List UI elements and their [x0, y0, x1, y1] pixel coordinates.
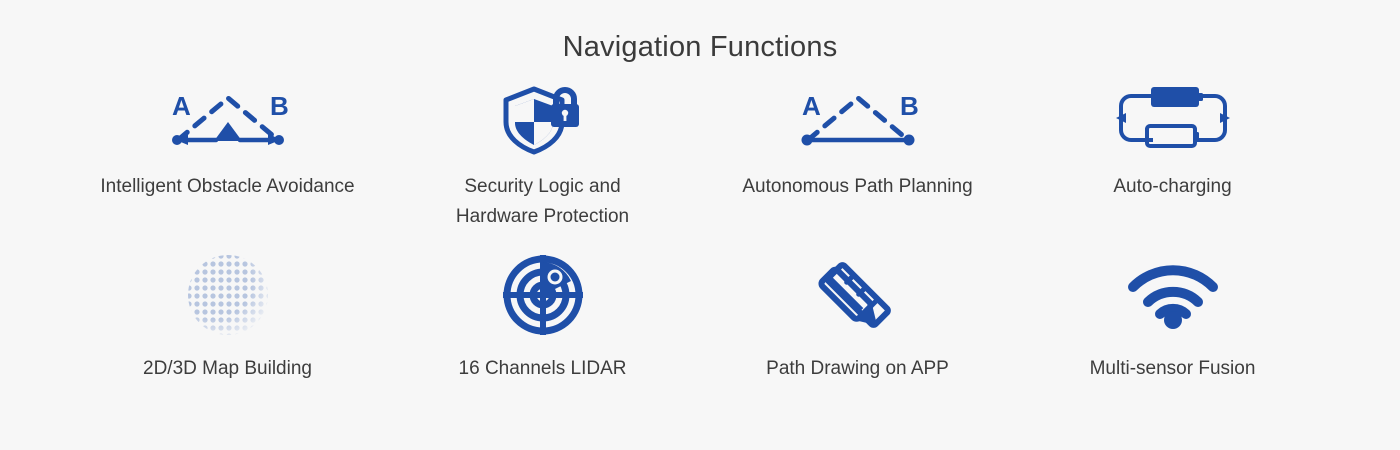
feature-label: Auto-charging: [1113, 172, 1231, 202]
feature-item-lidar[interactable]: 16 Channels LIDAR: [385, 253, 700, 428]
page-title: Navigation Functions: [0, 0, 1400, 62]
radar-target-icon: [502, 253, 584, 337]
feature-item-map-building[interactable]: 2D/3D Map Building: [70, 253, 385, 428]
label-point-a: A: [802, 91, 821, 121]
feature-label: 2D/3D Map Building: [143, 354, 312, 384]
wifi-signal-icon: [1125, 253, 1221, 337]
feature-label: Intelligent Obstacle Avoidance: [100, 172, 354, 202]
feature-label: Path Drawing on APP: [766, 354, 949, 384]
path-planning-icon: A B: [788, 78, 928, 158]
dotted-globe-icon: [185, 253, 271, 337]
feature-item-obstacle-avoidance[interactable]: A B Intelligent Obstacle Avoidance: [70, 78, 385, 253]
feature-item-auto-charging[interactable]: Auto-charging: [1015, 78, 1330, 253]
feature-label: Autonomous Path Planning: [742, 172, 972, 202]
feature-label: 16 Channels LIDAR: [459, 354, 627, 384]
feature-item-path-drawing[interactable]: Path Drawing on APP: [700, 253, 1015, 428]
label-point-b: B: [270, 91, 289, 121]
feature-grid: A B Intelligent Obstacle Avoidance: [70, 78, 1330, 428]
feature-item-path-planning[interactable]: A B Autonomous Path Planning: [700, 78, 1015, 253]
navigation-functions-panel: Navigation Functions: [0, 0, 1400, 450]
label-point-a: A: [172, 91, 191, 121]
feature-item-multi-sensor-fusion[interactable]: Multi-sensor Fusion: [1015, 253, 1330, 428]
pencil-ruler-icon: [817, 253, 899, 337]
obstacle-avoidance-icon: A B: [158, 78, 298, 158]
label-point-b: B: [900, 91, 919, 121]
feature-item-security-logic[interactable]: Security Logic and Hardware Protection: [385, 78, 700, 253]
feature-label: Multi-sensor Fusion: [1090, 354, 1256, 384]
shield-lock-icon: [500, 78, 586, 158]
feature-label: Security Logic and Hardware Protection: [456, 172, 629, 232]
battery-charging-icon: [1113, 78, 1233, 158]
